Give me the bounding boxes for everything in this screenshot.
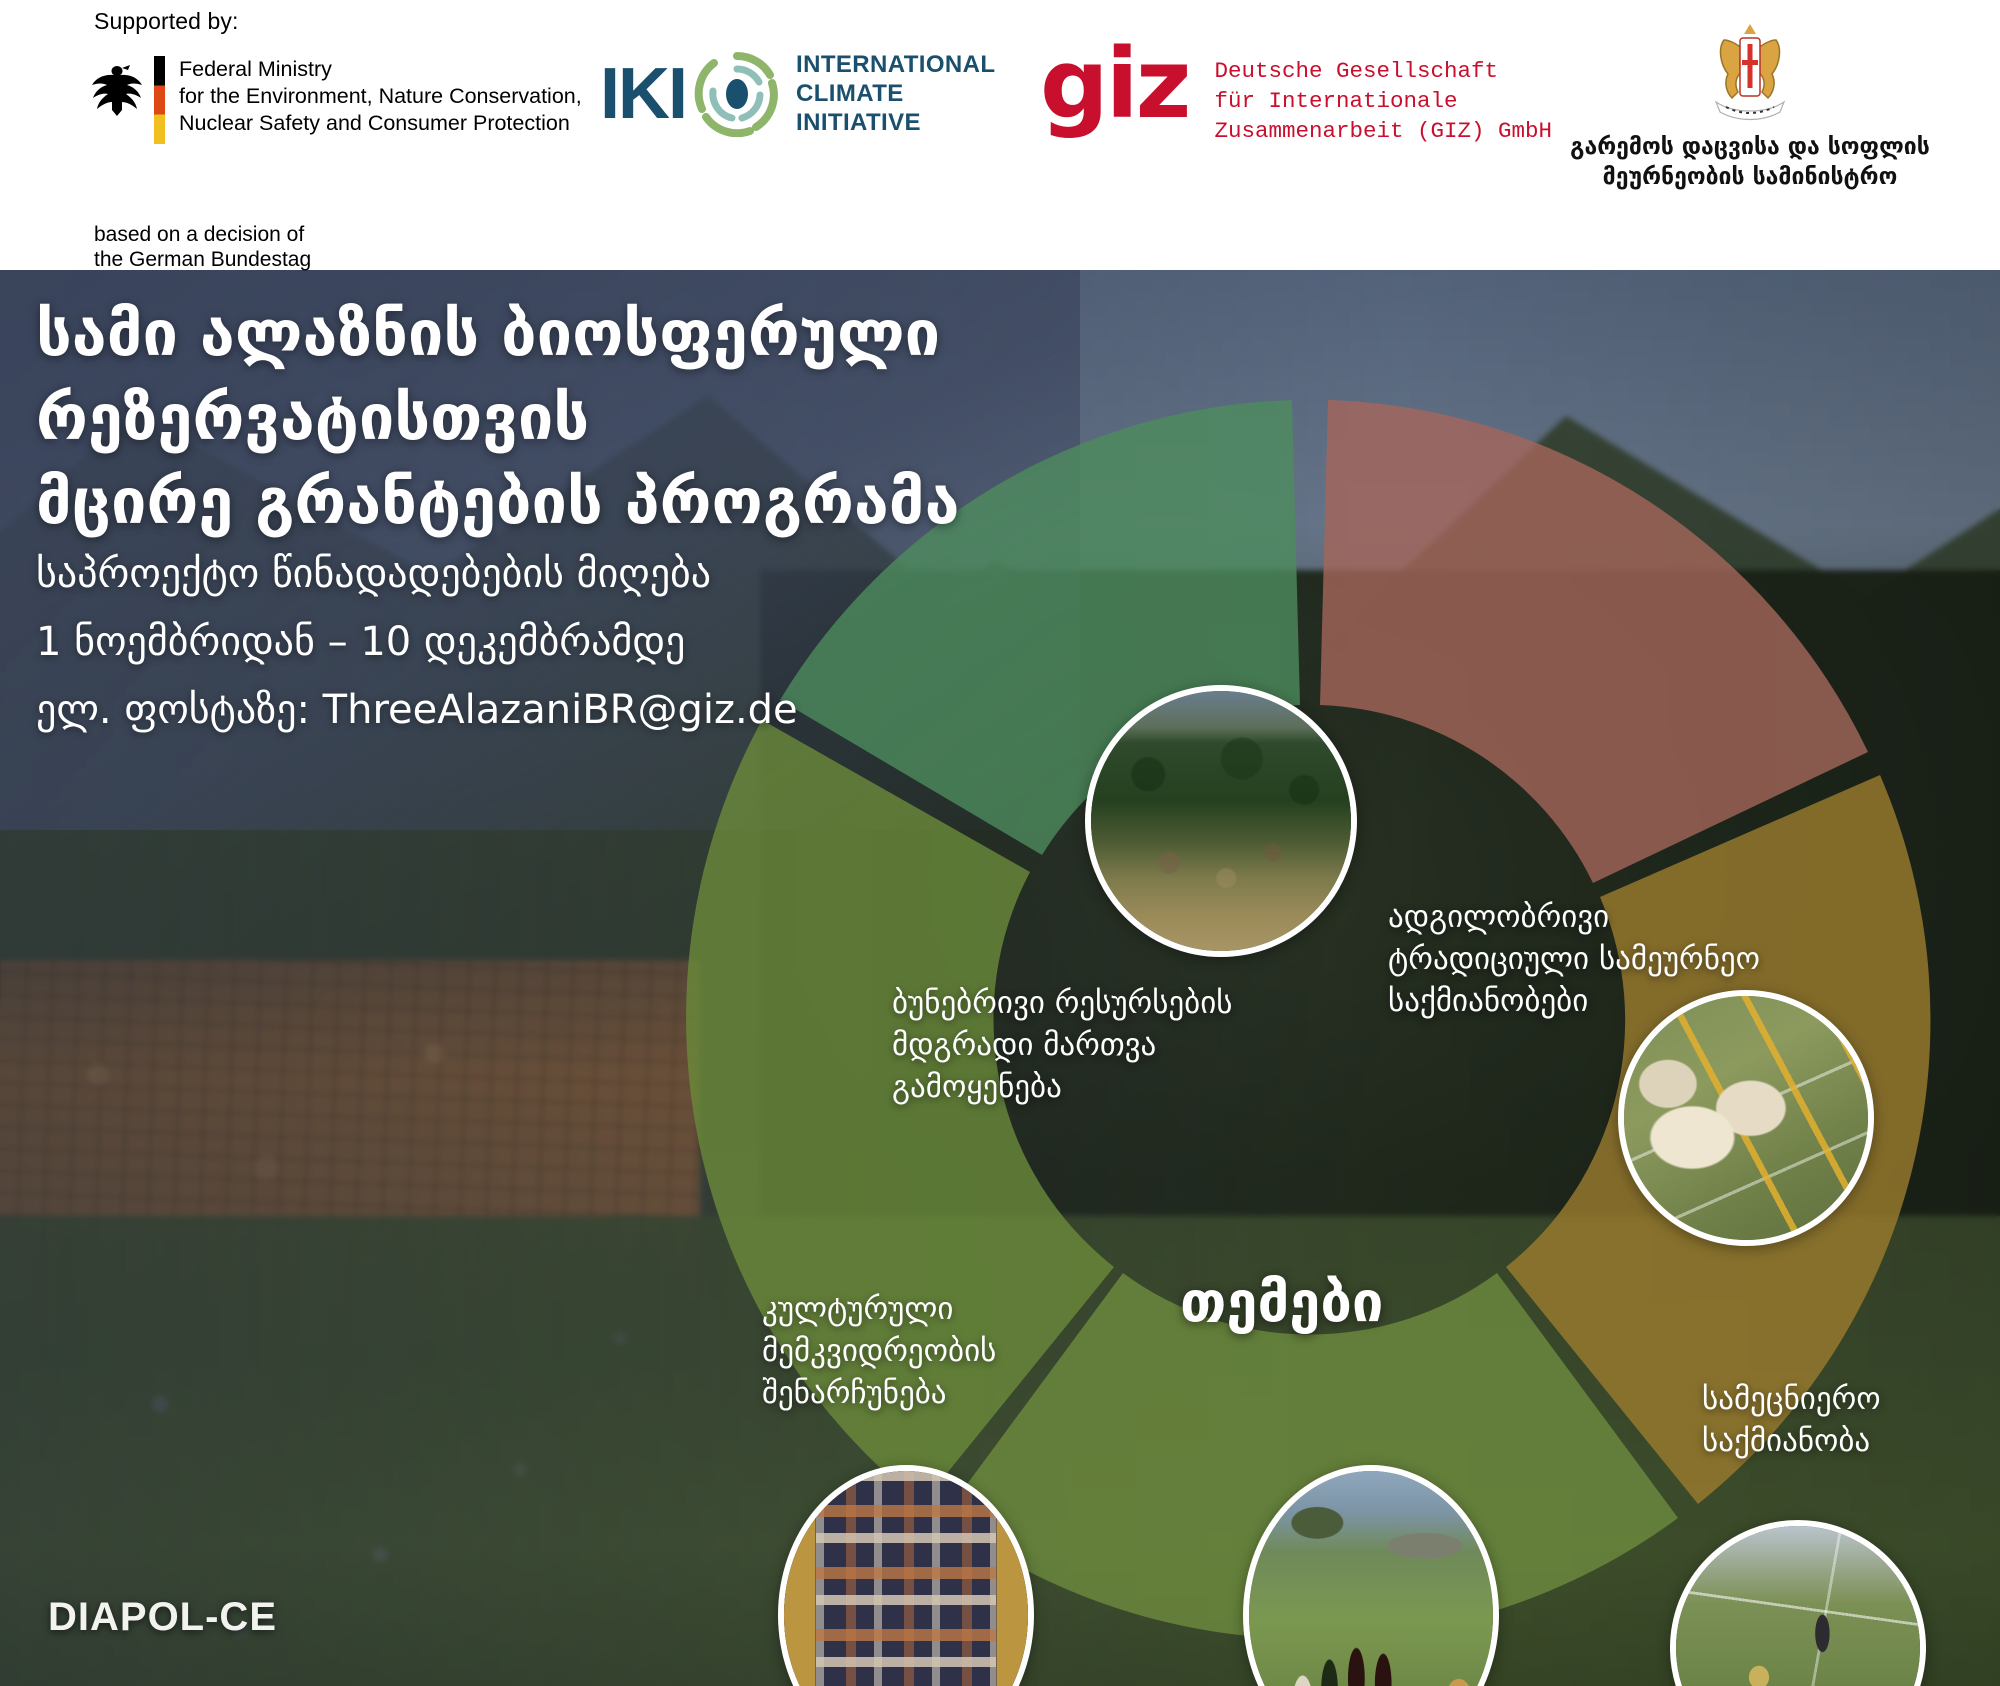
giz-name-line-3: Zusammenarbeit (GIZ) GmbH (1215, 116, 1553, 146)
iki-name-line-1: INTERNATIONAL (796, 50, 995, 79)
poster-root: Supported by: Federal Ministry for the E… (0, 0, 2000, 1686)
wheel-segment-local (1320, 400, 1868, 883)
wheel-label-science: სამეცნიერო საქმიანობა (1702, 1378, 1982, 1462)
wheel-label-culture: კულტურული მემკვიდრეობის შენარჩუნება (762, 1288, 1092, 1414)
bmu-name: Federal Ministry for the Environment, Na… (179, 56, 582, 137)
village-forest-photo (1085, 685, 1357, 957)
iki-concentric-circles-icon (694, 51, 780, 137)
german-flag-bar (154, 56, 165, 144)
bundestag-note: based on a decision of the German Bundes… (94, 222, 311, 272)
giz-name: Deutsche Gesellschaft für Internationale… (1215, 56, 1553, 146)
sheep-pasture-photo (1618, 990, 1874, 1246)
iki-name: INTERNATIONAL CLIMATE INITIATIVE (796, 50, 995, 137)
logo-header: Supported by: Federal Ministry for the E… (0, 0, 2000, 270)
bundestag-note-line-2: the German Bundestag (94, 247, 311, 272)
german-eagle-icon (90, 58, 144, 120)
grassland-survey-photo-image (1676, 1526, 1920, 1686)
submission-email[interactable]: ელ. ფოსტაზე: ThreeAlazaniBR@giz.de (36, 676, 976, 744)
kilim-carpet-photo-image (784, 1471, 1028, 1686)
diapol-ce-brand: DIAPOL-CE (48, 1595, 277, 1640)
local-products-photo-image (1249, 1471, 1493, 1686)
wheel-label-nature: ბუნებრივი რესურსების მდგრადი მართვა გამო… (892, 982, 1362, 1108)
georgia-ministry-logo: გარემოს დაცვისა და სოფლის მეურნეობის სამ… (1520, 18, 1980, 192)
giz-name-line-2: für Internationale (1215, 86, 1553, 116)
page-title: სამი ალაზნის ბიოსფერული რეზერვატისთვის მ… (36, 292, 1166, 544)
iki-wordmark: IKI (600, 58, 686, 130)
wheel-center-label: თემები (1180, 1270, 1383, 1335)
local-products-photo (1243, 1465, 1499, 1686)
georgia-ministry-name: გარემოს დაცვისა და სოფლის მეურნეობის სამ… (1520, 132, 1980, 192)
kilim-carpet-photo (778, 1465, 1034, 1686)
georgia-ministry-name-line-1: გარემოს დაცვისა და სოფლის (1520, 132, 1980, 162)
giz-wordmark: giz (1040, 36, 1189, 132)
giz-logo: giz Deutsche Gesellschaft für Internatio… (1040, 44, 1552, 146)
supported-by-label: Supported by: (94, 8, 239, 35)
bundestag-note-line-1: based on a decision of (94, 222, 311, 247)
grassland-survey-photo (1670, 1520, 1926, 1686)
sheep-pasture-photo-image (1624, 996, 1868, 1240)
bmu-name-line-1: Federal Ministry (179, 56, 582, 83)
page-title-line-1: სამი ალაზნის ბიოსფერული რეზერვატისთვის (36, 292, 1166, 460)
page-title-line-2: მცირე გრანტების პროგრამა (36, 460, 1166, 544)
bmu-name-line-2: for the Environment, Nature Conservation… (179, 83, 582, 110)
iki-name-line-2: CLIMATE (796, 79, 995, 108)
bmu-name-line-3: Nuclear Safety and Consumer Protection (179, 110, 582, 137)
submission-dates: 1 ნოემბრიდან – 10 დეკემბრამდე (36, 608, 976, 676)
iki-name-line-3: INITIATIVE (796, 108, 995, 137)
giz-name-line-1: Deutsche Gesellschaft (1215, 56, 1553, 86)
village-forest-photo-image (1091, 691, 1351, 951)
bmu-logo: Federal Ministry for the Environment, Na… (90, 56, 582, 144)
submission-info: საპროექტო წინადადებების მიღება 1 ნოემბრი… (36, 540, 976, 744)
iki-logo: IKI INTERNATIONAL CLI (600, 50, 995, 137)
poster-body: სამი ალაზნის ბიოსფერული რეზერვატისთვის მ… (0, 270, 2000, 1686)
georgia-coat-of-arms-icon (1704, 18, 1796, 126)
georgia-ministry-name-line-2: მეურნეობის სამინისტრო (1520, 162, 1980, 192)
submission-heading: საპროექტო წინადადებების მიღება (36, 540, 976, 608)
